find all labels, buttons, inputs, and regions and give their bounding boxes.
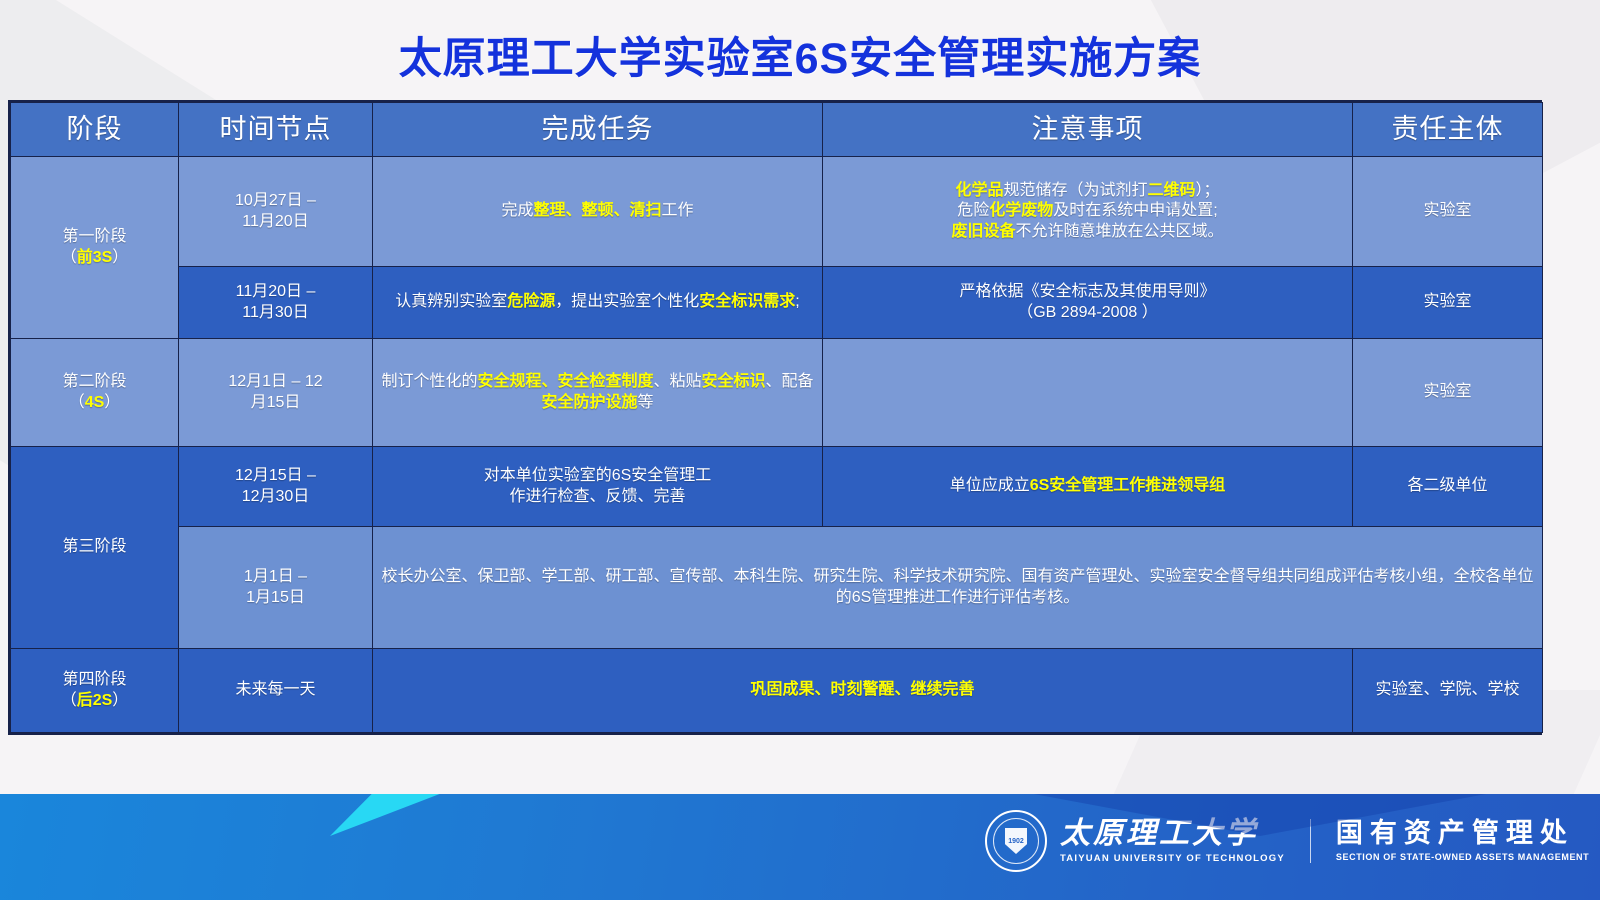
- department-name-cn: 国有资产管理处: [1336, 820, 1589, 847]
- task-line-2: 作进行检查、反馈、完善: [379, 487, 816, 507]
- stage-subtitle-highlight: 前3S: [77, 249, 113, 266]
- cell-task-6: 巩固成果、时刻警醒、继续完善: [373, 649, 1353, 733]
- cell-notes-4: 单位应成立6S安全管理工作推进领导组: [823, 447, 1353, 527]
- task-text-highlight-2: 安全标识需求: [699, 293, 795, 310]
- task-text-plain-2: 、粘贴: [653, 373, 701, 390]
- column-header-stage: 阶段: [11, 103, 179, 157]
- task-text-plain: 认真辨别实验室: [395, 293, 507, 310]
- cell-notes-1: 化学品规范储存（为试剂打二维码）； 危险化学废物及时在系统中申请处置; 废旧设备…: [823, 157, 1353, 267]
- stage-subtitle-highlight: 4S: [85, 394, 105, 411]
- note-line-3: 废旧设备不允许随意堆放在公共区域。: [829, 222, 1346, 242]
- note-plain-d: 及时在系统中申请处置;: [1053, 202, 1217, 219]
- cell-responsible-1: 实验室: [1353, 157, 1543, 267]
- time-line-2: 1月15日: [185, 588, 366, 608]
- cell-stage-phase-4: 第四阶段 （后2S）: [11, 649, 179, 733]
- cell-time-3: 12月1日 – 12 月15日: [179, 339, 373, 447]
- cell-task-2: 认真辨别实验室危险源，提出实验室个性化安全标识需求;: [373, 267, 823, 339]
- table-row: 第二阶段 （4S） 12月1日 – 12 月15日 制订个性化的安全规程、安全检…: [11, 339, 1543, 447]
- task-text-plain-4: 等: [638, 394, 654, 411]
- time-line-1: 12月15日 –: [185, 466, 366, 486]
- note-line-1: 严格依据《安全标志及其使用导则》: [829, 282, 1346, 302]
- note-plain-c: 危险: [957, 202, 989, 219]
- time-line-2: 月15日: [185, 393, 366, 413]
- time-line-1: 12月1日 – 12: [185, 372, 366, 392]
- plan-table-container: 阶段 时间节点 完成任务 注意事项 责任主体 第一阶段 （前3S） 10月27日…: [8, 100, 1542, 735]
- cell-notes-2: 严格依据《安全标志及其使用导则》 （GB 2894-2008 ）: [823, 267, 1353, 339]
- stage-subtitle: （前3S）: [17, 248, 172, 268]
- stage-subtitle: （4S）: [17, 393, 172, 413]
- task-text-plain-3: ;: [795, 293, 799, 310]
- cell-task-3: 制订个性化的安全规程、安全检查制度、粘贴安全标识、配备安全防护设施等: [373, 339, 823, 447]
- page-title: 太原理工大学实验室6S安全管理实施方案: [0, 24, 1600, 86]
- time-line-2: 12月30日: [185, 487, 366, 507]
- task-text-highlight-2: 安全标识: [702, 373, 766, 390]
- footer-logo-group: 1902 太原理工大学 TAIYUAN UNIVERSITY OF TECHNO…: [985, 810, 1589, 872]
- department-name-en: SECTION OF STATE-OWNED ASSETS MANAGEMENT: [1336, 852, 1589, 862]
- table-row: 第一阶段 （前3S） 10月27日 – 11月20日 完成整理、整顿、清扫工作 …: [11, 157, 1543, 267]
- task-text-plain: 完成: [501, 202, 533, 219]
- note-plain-a: 规范储存（为试剂打: [1003, 182, 1147, 199]
- task-text-plain: 制订个性化的: [381, 373, 477, 390]
- university-seal-icon: 1902: [985, 810, 1047, 872]
- slide-root: 太原理工大学实验室6S安全管理实施方案 阶段 时间节点 完成任务 注意事项 责任…: [0, 0, 1600, 900]
- note-highlight-a: 化学品: [955, 182, 1003, 199]
- department-name-block: 国有资产管理处 SECTION OF STATE-OWNED ASSETS MA…: [1336, 820, 1589, 862]
- cell-responsible-3: 实验室: [1353, 339, 1543, 447]
- note-highlight-c: 化学废物: [989, 202, 1053, 219]
- stage-subtitle: （后2S）: [17, 691, 172, 711]
- column-header-task: 完成任务: [373, 103, 823, 157]
- task-text-highlight-3: 安全防护设施: [541, 394, 637, 411]
- task-text-highlight: 整理、整顿、清扫: [533, 202, 661, 219]
- note-line-1: 化学品规范储存（为试剂打二维码）；: [829, 181, 1346, 201]
- stage-subtitle-highlight: 后2S: [77, 692, 113, 709]
- table-row: 第三阶段 12月15日 – 12月30日 对本单位实验室的6S安全管理工 作进行…: [11, 447, 1543, 527]
- university-name-cn: 太原理工大学: [1060, 819, 1285, 849]
- note-plain: 单位应成立: [950, 477, 1030, 494]
- time-line-2: 11月20日: [185, 212, 366, 232]
- table-header-row: 阶段 时间节点 完成任务 注意事项 责任主体: [11, 103, 1543, 157]
- table-row: 11月20日 – 11月30日 认真辨别实验室危险源，提出实验室个性化安全标识需…: [11, 267, 1543, 339]
- table-row: 1月1日 – 1月15日 校长办公室、保卫部、学工部、研工部、宣传部、本科生院、…: [11, 527, 1543, 649]
- note-line-2: 危险化学废物及时在系统中申请处置;: [829, 201, 1346, 221]
- cell-time-2: 11月20日 – 11月30日: [179, 267, 373, 339]
- column-header-responsible: 责任主体: [1353, 103, 1543, 157]
- note-highlight-b: 二维码: [1148, 182, 1196, 199]
- task-text-plain-3: 、配备: [766, 373, 814, 390]
- logo-divider: [1310, 819, 1311, 863]
- task-text-plain-2: 工作: [662, 202, 694, 219]
- stage-name: 第一阶段: [17, 227, 172, 247]
- cell-stage-phase-1: 第一阶段 （前3S）: [11, 157, 179, 339]
- time-line-1: 11月20日 –: [185, 282, 366, 302]
- footer-band: 1902 太原理工大学 TAIYUAN UNIVERSITY OF TECHNO…: [0, 794, 1600, 900]
- stage-name: 第四阶段: [17, 670, 172, 690]
- note-plain-b: ）；: [1196, 182, 1220, 199]
- cell-responsible-2: 实验室: [1353, 267, 1543, 339]
- university-name-block: 太原理工大学 TAIYUAN UNIVERSITY OF TECHNOLOGY: [1060, 819, 1285, 864]
- cell-merged-evaluation-text: 校长办公室、保卫部、学工部、研工部、宣传部、本科生院、研究生院、科学技术研究院、…: [373, 527, 1543, 649]
- cell-responsible-4: 各二级单位: [1353, 447, 1543, 527]
- task-text-highlight: 巩固成果、时刻警醒、继续完善: [750, 681, 974, 698]
- cell-task-1: 完成整理、整顿、清扫工作: [373, 157, 823, 267]
- task-text-highlight: 危险源: [507, 293, 555, 310]
- cell-time-6: 未来每一天: [179, 649, 373, 733]
- cell-time-1: 10月27日 – 11月20日: [179, 157, 373, 267]
- note-highlight: 6S安全管理工作推进领导组: [1030, 477, 1226, 494]
- seal-year-label: 1902: [987, 838, 1045, 845]
- cell-task-4: 对本单位实验室的6S安全管理工 作进行检查、反馈、完善: [373, 447, 823, 527]
- column-header-notes: 注意事项: [823, 103, 1353, 157]
- cell-time-4: 12月15日 – 12月30日: [179, 447, 373, 527]
- cell-notes-3: [823, 339, 1353, 447]
- cell-stage-phase-3: 第三阶段: [11, 447, 179, 649]
- time-line-1: 1月1日 –: [185, 567, 366, 587]
- note-line-2: （GB 2894-2008 ）: [829, 303, 1346, 323]
- time-line-2: 11月30日: [185, 303, 366, 323]
- task-text-highlight: 安全规程、安全检查制度: [477, 373, 653, 390]
- note-highlight-d: 废旧设备: [951, 223, 1015, 240]
- time-line-1: 10月27日 –: [185, 191, 366, 211]
- university-name-en: TAIYUAN UNIVERSITY OF TECHNOLOGY: [1060, 853, 1285, 864]
- stage-name: 第三阶段: [17, 537, 172, 557]
- stage-name: 第二阶段: [17, 372, 172, 392]
- cell-time-5: 1月1日 – 1月15日: [179, 527, 373, 649]
- task-line-1: 对本单位实验室的6S安全管理工: [379, 466, 816, 486]
- column-header-time: 时间节点: [179, 103, 373, 157]
- task-text-plain-2: ，提出实验室个性化: [555, 293, 699, 310]
- plan-table: 阶段 时间节点 完成任务 注意事项 责任主体 第一阶段 （前3S） 10月27日…: [10, 102, 1543, 733]
- table-row: 第四阶段 （后2S） 未来每一天 巩固成果、时刻警醒、继续完善 实验室、学院、学…: [11, 649, 1543, 733]
- note-plain-e: 不允许随意堆放在公共区域。: [1016, 223, 1224, 240]
- cell-stage-phase-2: 第二阶段 （4S）: [11, 339, 179, 447]
- cell-responsible-6: 实验室、学院、学校: [1353, 649, 1543, 733]
